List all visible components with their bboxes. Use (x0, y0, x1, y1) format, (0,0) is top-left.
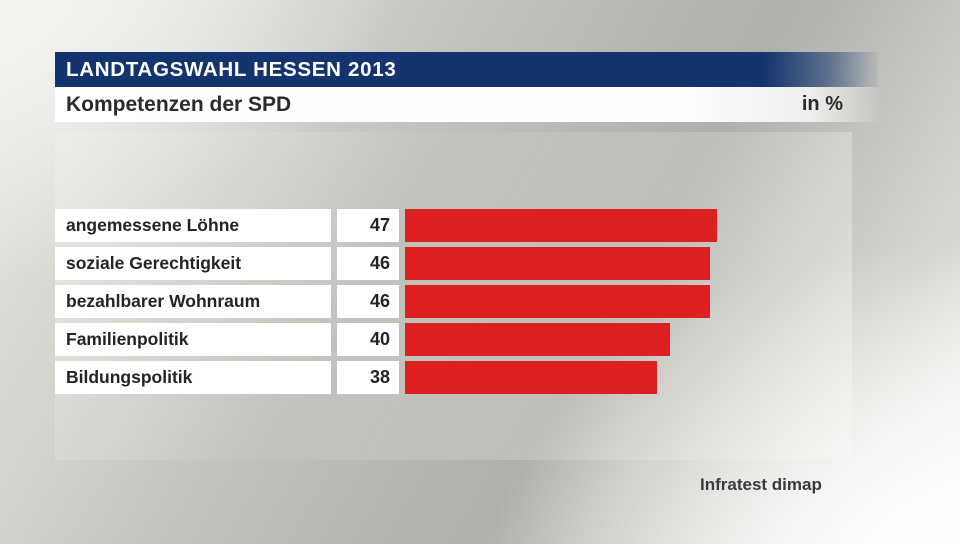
value-bar (405, 361, 657, 394)
value-bar (405, 209, 717, 242)
value-bar (405, 247, 710, 280)
value-bar (405, 285, 710, 318)
page-title: LANDTAGSWAHL HESSEN 2013 (55, 58, 396, 82)
subheader-banner: Kompetenzen der SPD in % (55, 87, 878, 122)
value-cell: 40 (337, 323, 399, 356)
value-cell: 46 (337, 247, 399, 280)
value-label: 46 (370, 291, 399, 312)
category-label: angemessene Löhne (55, 215, 239, 236)
category-label: soziale Gerechtigkeit (55, 253, 241, 274)
category-label-cell: Familienpolitik (55, 323, 331, 356)
category-label-cell: bezahlbarer Wohnraum (55, 285, 331, 318)
unit-label: in % (802, 93, 843, 116)
value-label: 40 (370, 329, 399, 350)
category-label-cell: Bildungspolitik (55, 361, 331, 394)
header-banner: LANDTAGSWAHL HESSEN 2013 (55, 52, 878, 87)
category-label: Bildungspolitik (55, 367, 192, 388)
value-label: 38 (370, 367, 399, 388)
category-label-cell: angemessene Löhne (55, 209, 331, 242)
value-label: 46 (370, 253, 399, 274)
value-cell: 46 (337, 285, 399, 318)
chart-subtitle: Kompetenzen der SPD (55, 93, 291, 117)
value-label: 47 (370, 215, 399, 236)
source-attribution: Infratest dimap (700, 475, 822, 495)
infographic-frame: LANDTAGSWAHL HESSEN 2013 Kompetenzen der… (0, 0, 960, 544)
category-label-cell: soziale Gerechtigkeit (55, 247, 331, 280)
value-bar (405, 323, 670, 356)
value-cell: 38 (337, 361, 399, 394)
category-label: Familienpolitik (55, 329, 189, 350)
value-cell: 47 (337, 209, 399, 242)
category-label: bezahlbarer Wohnraum (55, 291, 260, 312)
